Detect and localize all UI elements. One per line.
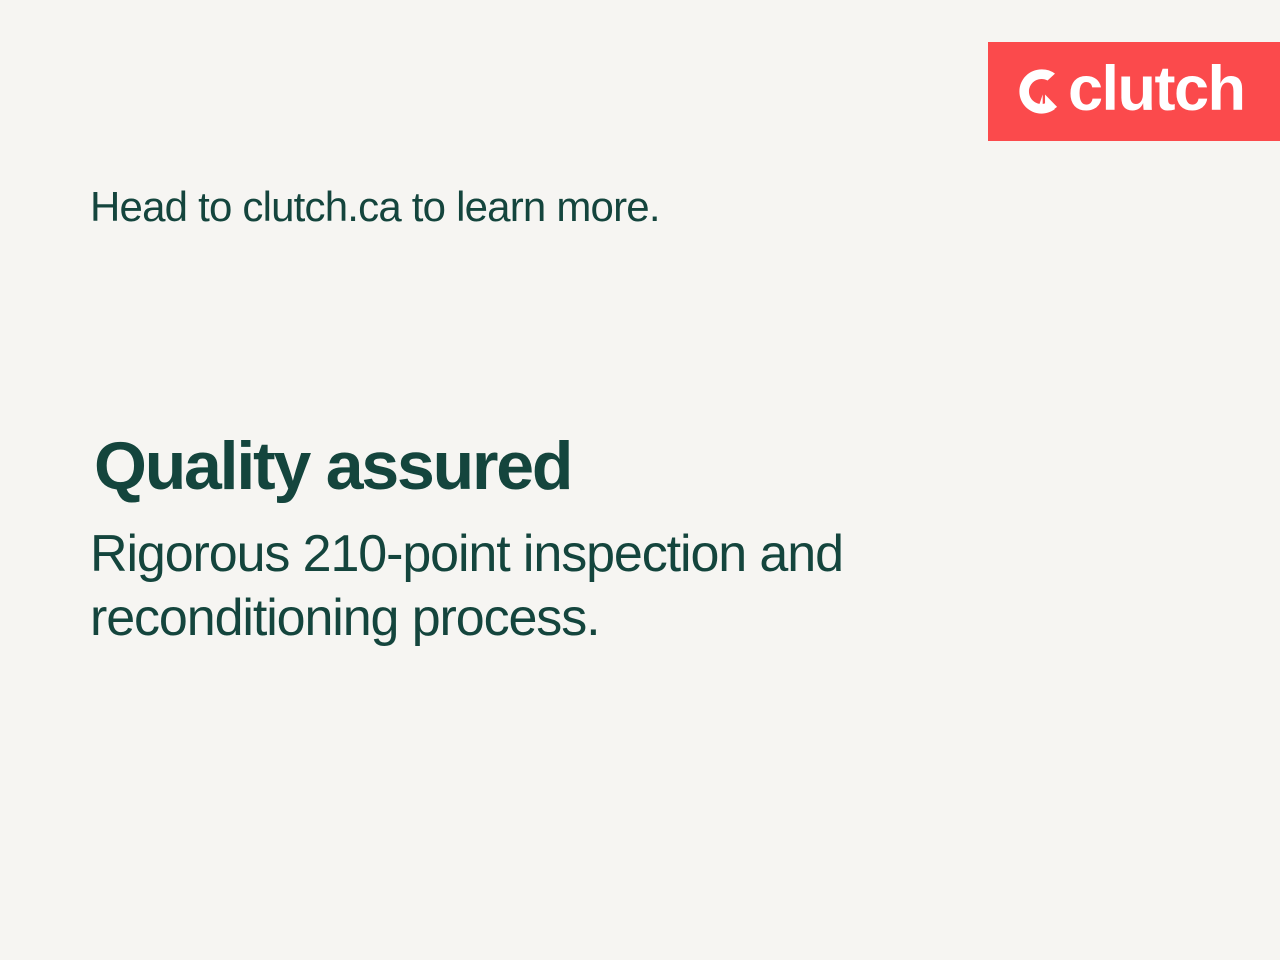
page-subtitle: Rigorous 210-point inspection and recond… [90, 522, 930, 651]
message-block: Quality assured Rigorous 210-point inspe… [90, 432, 990, 651]
clutch-wordmark: clutch [1068, 58, 1245, 121]
clutch-c-monogram-icon [1018, 68, 1065, 115]
clutch-logo-block[interactable]: clutch [988, 42, 1280, 141]
page-title: Quality assured [94, 432, 990, 500]
promotional-slide: clutch Head to clutch.ca to learn more. … [0, 0, 1280, 960]
lead-callout-text: Head to clutch.ca to learn more. [90, 182, 660, 232]
